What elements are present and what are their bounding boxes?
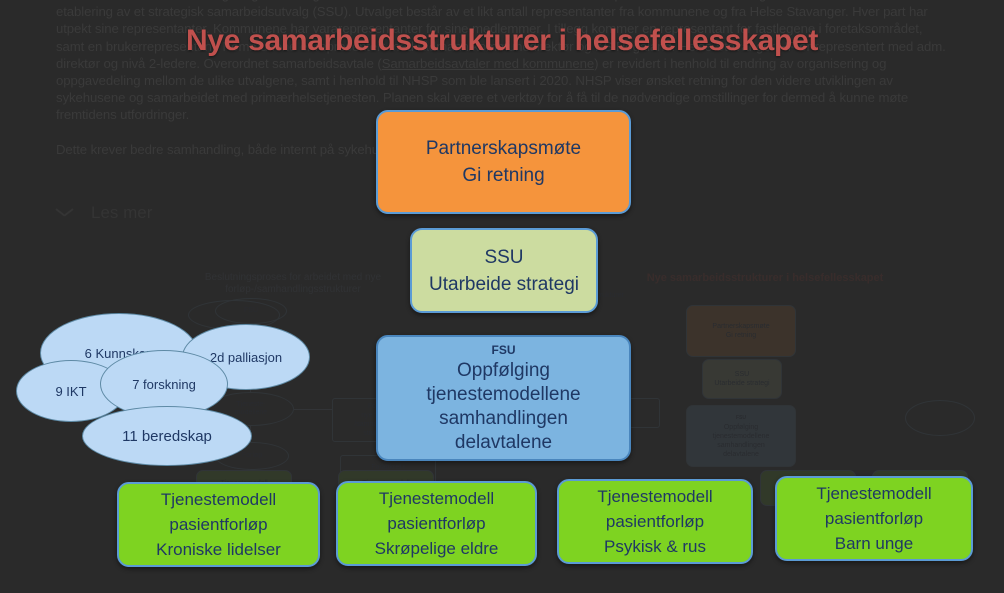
diagram-ellipse-beredskap[interactable]: 11 beredskap [82, 406, 252, 466]
box-line: Tjenestemodell [379, 486, 494, 511]
box-line: samhandlingen [439, 407, 568, 431]
diagram-box-fsu[interactable]: FSU Oppfølging tjenestemodellene samhand… [376, 335, 631, 461]
box-line: tjenestemodellene [426, 383, 580, 407]
diagram-box-tjenestemodell-kroniske[interactable]: Tjenestemodell pasientforløp Kroniske li… [117, 482, 320, 567]
ellipse-label: 7 forskning [132, 377, 196, 392]
box-line: pasientforløp [169, 512, 267, 537]
box-line: pasientforløp [825, 506, 923, 531]
highlighted-diagram: Partnerskapsmøte Gi retning SSU Utarbeid… [0, 0, 1004, 593]
box-line: pasientforløp [387, 511, 485, 536]
page-title: Nye samarbeidsstrukturer i helsefellessk… [0, 24, 1004, 58]
box-line: SSU [484, 244, 523, 271]
box-line: Tjenestemodell [161, 487, 276, 512]
box-line: delavtalene [455, 431, 552, 455]
box-line: Psykisk & rus [604, 534, 706, 559]
diagram-box-partnerskapsmote[interactable]: Partnerskapsmøte Gi retning [376, 110, 631, 214]
box-line: Skrøpelige eldre [375, 536, 499, 561]
box-line: pasientforløp [606, 509, 704, 534]
box-line: Oppfølging [457, 359, 550, 383]
ellipse-label: 2d palliasjon [210, 350, 282, 365]
box-line: Tjenestemodell [597, 484, 712, 509]
box-line: Partnerskapsmøte [426, 135, 581, 162]
ellipse-label: 9 IKT [55, 384, 86, 399]
diagram-box-tjenestemodell-barn[interactable]: Tjenestemodell pasientforløp Barn unge [775, 476, 973, 561]
box-line: FSU [492, 342, 516, 359]
diagram-box-ssu[interactable]: SSU Utarbeide strategi [410, 228, 598, 313]
box-line: Kroniske lidelser [156, 537, 281, 562]
box-line: Tjenestemodell [816, 481, 931, 506]
box-line: Barn unge [835, 531, 913, 556]
box-line: Utarbeide strategi [429, 271, 579, 298]
diagram-box-tjenestemodell-psykisk[interactable]: Tjenestemodell pasientforløp Psykisk & r… [557, 479, 753, 564]
box-line: Gi retning [462, 162, 544, 189]
ellipse-label: 11 beredskap [122, 428, 212, 445]
diagram-box-tjenestemodell-skropelige[interactable]: Tjenestemodell pasientforløp Skrøpelige … [336, 481, 537, 566]
